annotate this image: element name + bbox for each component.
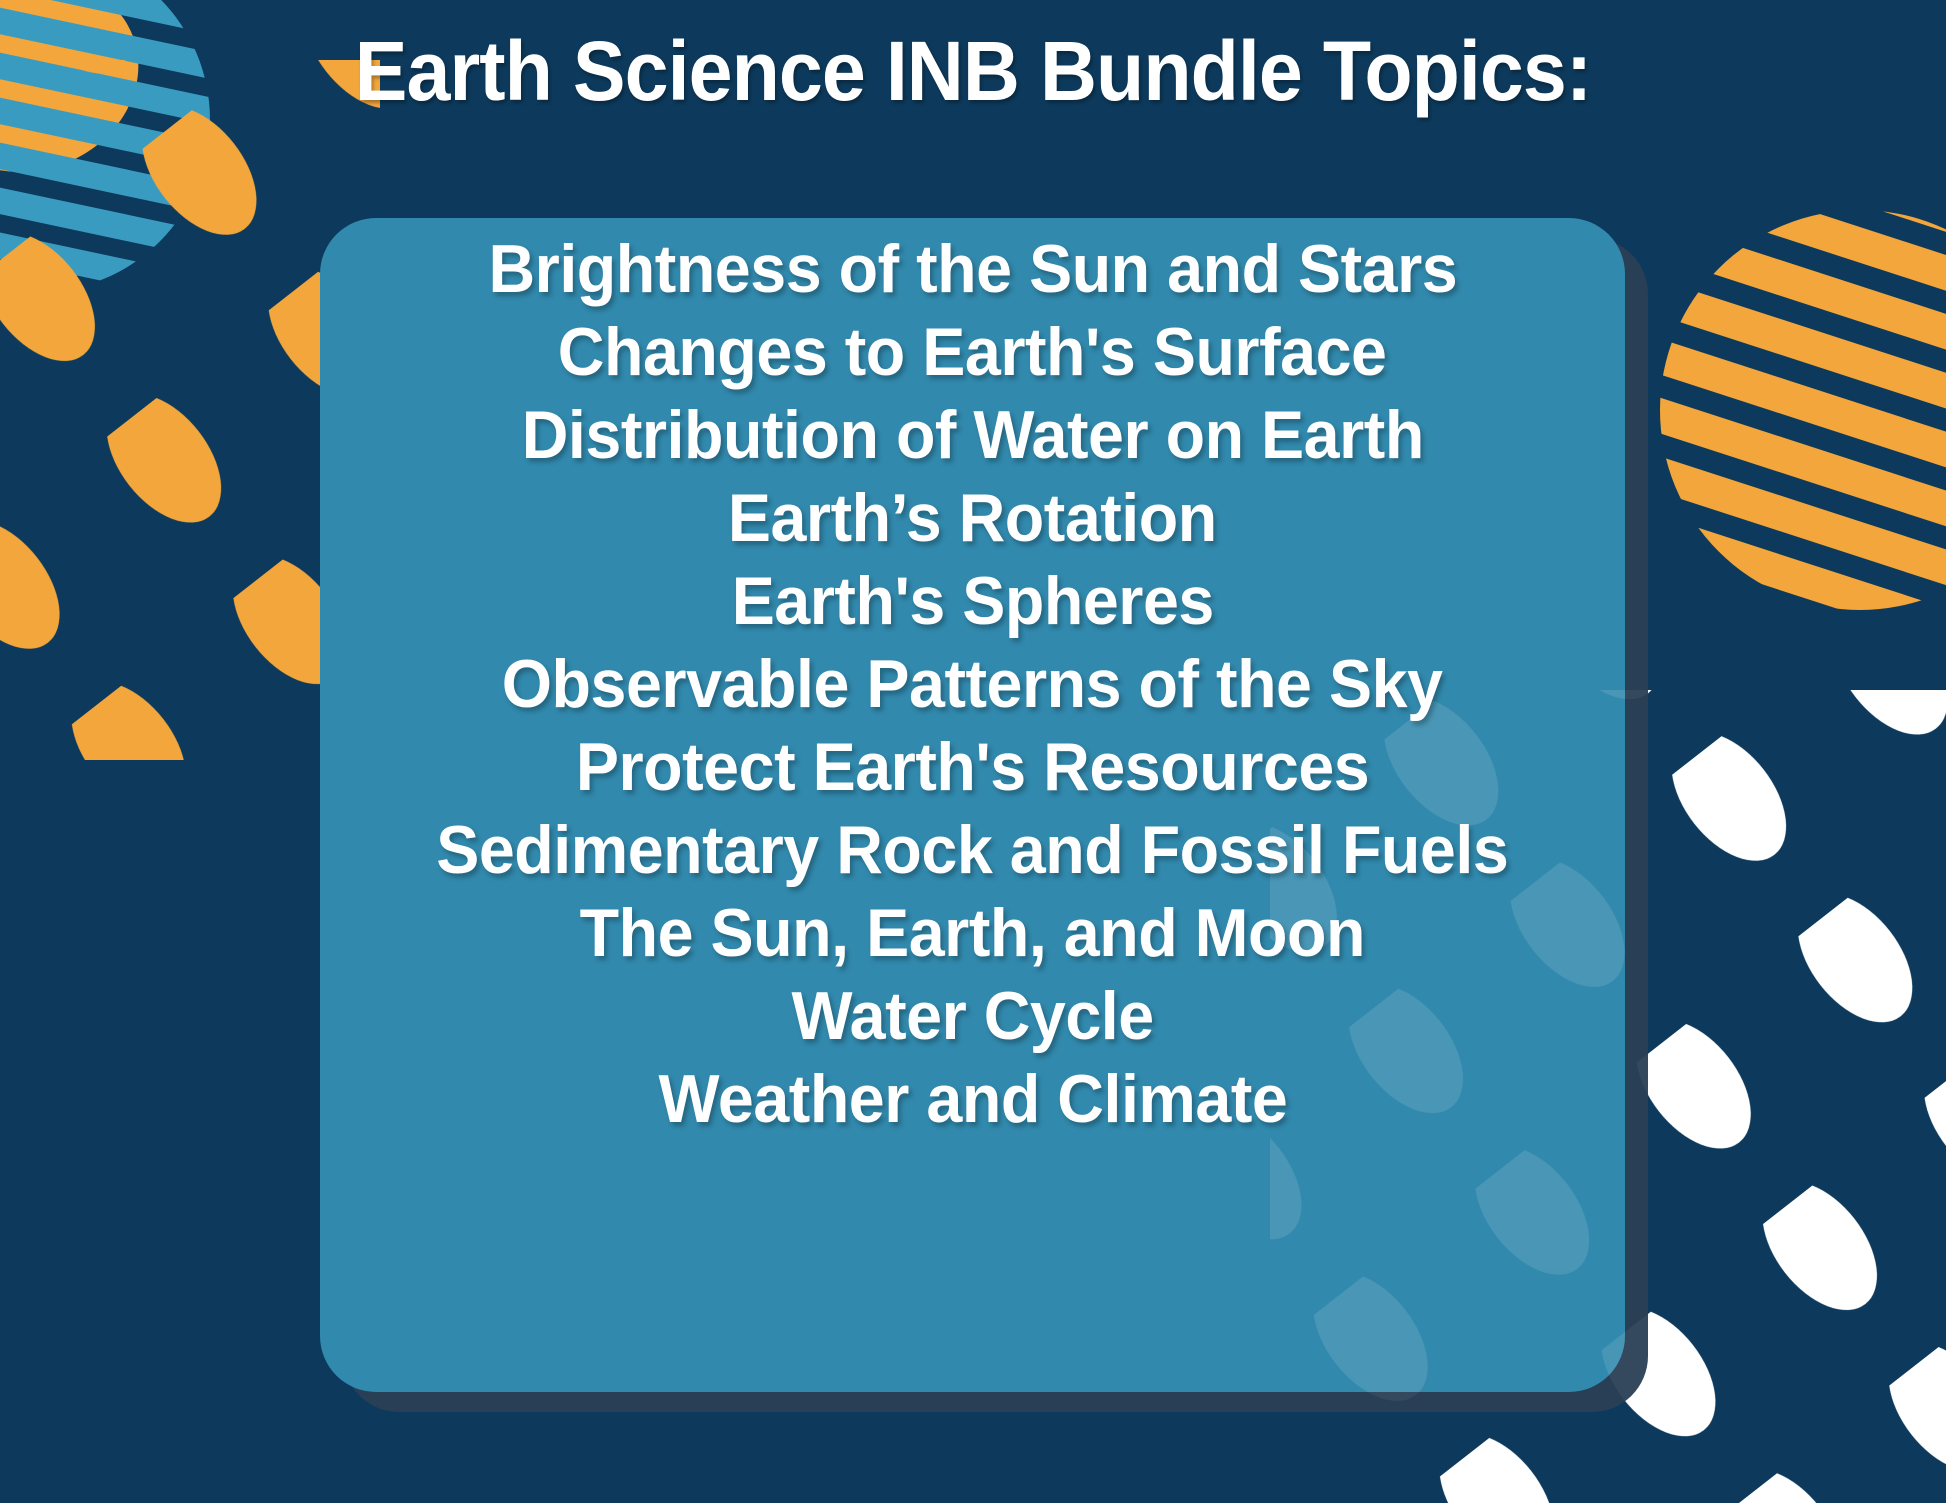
list-item: The Sun, Earth, and Moon — [580, 892, 1365, 975]
poster-canvas: Earth Science INB Bundle Topics: Brightn… — [0, 0, 1946, 1503]
topics-card: Brightness of the Sun and Stars Changes … — [320, 218, 1625, 1392]
list-item: Weather and Climate — [658, 1058, 1287, 1141]
list-item: Sedimentary Rock and Fossil Fuels — [436, 809, 1508, 892]
page-title: Earth Science INB Bundle Topics: — [58, 26, 1887, 117]
list-item: Earth's Spheres — [731, 560, 1213, 643]
list-item: Changes to Earth's Surface — [558, 311, 1387, 394]
list-item: Earth’s Rotation — [728, 477, 1217, 560]
list-item: Protect Earth's Resources — [576, 726, 1369, 809]
topics-list: Brightness of the Sun and Stars Changes … — [320, 218, 1625, 1392]
list-item: Distribution of Water on Earth — [521, 394, 1423, 477]
list-item: Water Cycle — [791, 975, 1153, 1058]
list-item: Observable Patterns of the Sky — [502, 643, 1443, 726]
list-item: Brightness of the Sun and Stars — [488, 228, 1457, 311]
